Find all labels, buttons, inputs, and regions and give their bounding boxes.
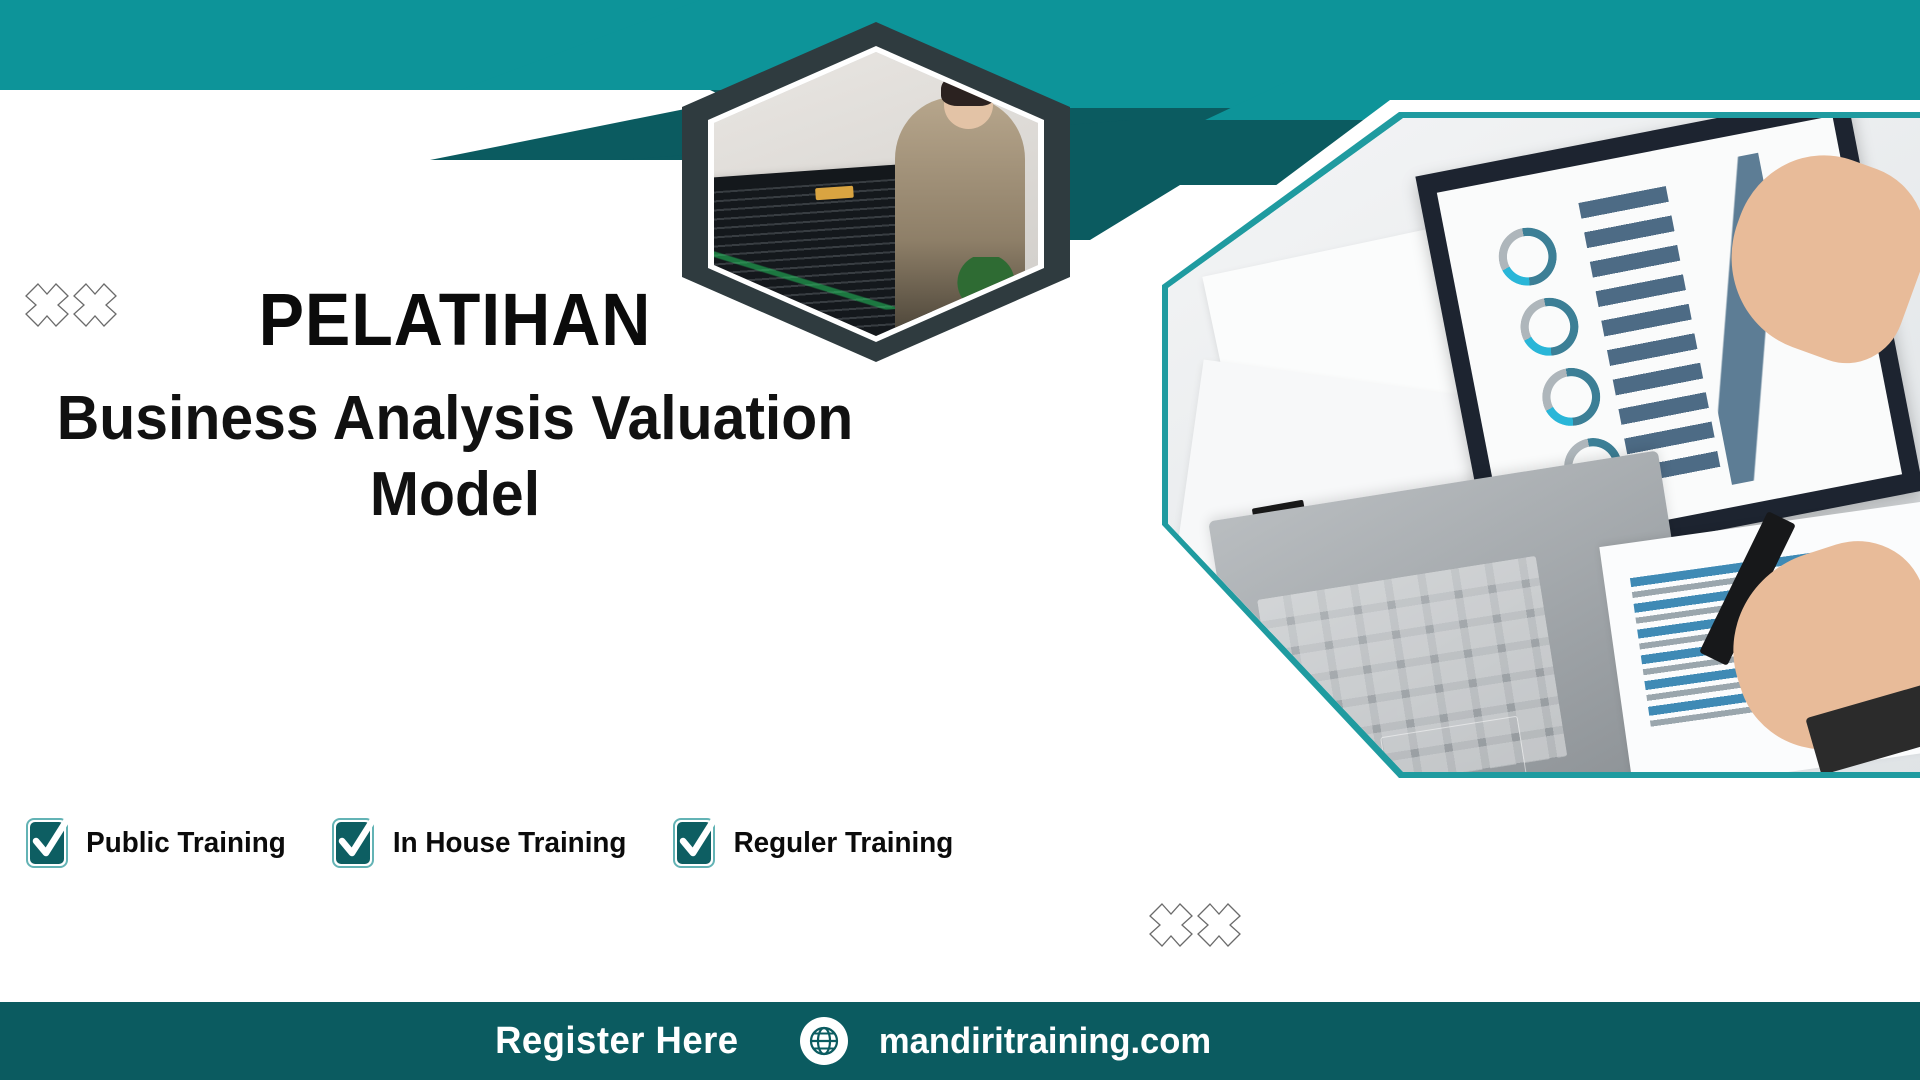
x-decoration-bottom	[1148, 902, 1242, 948]
training-options-list: Public Training In House Training Regule…	[26, 818, 958, 868]
page-title-line-1: Business Analysis Valuation	[23, 381, 888, 457]
donut-chart-1	[1494, 223, 1562, 291]
training-option-public[interactable]: Public Training	[26, 818, 290, 868]
headline-block: PELATIHAN Business Analysis Valuation Mo…	[0, 282, 910, 533]
footer-bar: Register Here mandiritraining.com	[0, 1002, 1920, 1080]
training-option-label: Public Training	[86, 827, 286, 860]
donut-chart-2	[1516, 293, 1584, 361]
checkmark-icon	[330, 810, 382, 868]
checkmark-icon	[671, 810, 723, 868]
x-cross-outline-icon	[1196, 902, 1242, 948]
website-url[interactable]: mandiritraining.com	[879, 1020, 1211, 1062]
page-title: Business Analysis Valuation Model	[23, 381, 888, 532]
checkmark-icon	[24, 810, 76, 868]
x-cross-outline-icon	[1148, 902, 1194, 948]
training-option-label: In House Training	[393, 827, 627, 860]
page-kicker: PELATIHAN	[36, 282, 873, 357]
donut-chart-3	[1538, 363, 1606, 431]
page-title-line-2: Model	[23, 457, 888, 533]
training-option-in-house[interactable]: In House Training	[332, 818, 631, 868]
training-option-reguler[interactable]: Reguler Training	[673, 818, 958, 868]
register-here-label[interactable]: Register Here	[495, 1020, 738, 1063]
checkbox-checked-icon[interactable]	[26, 818, 68, 868]
flyer-canvas: PELATIHAN Business Analysis Valuation Mo…	[0, 0, 1920, 1080]
footer-content: Register Here mandiritraining.com	[490, 1017, 1218, 1065]
website-group[interactable]: mandiritraining.com	[800, 1017, 1218, 1065]
hex-right-photo	[1168, 118, 1920, 772]
globe-icon	[800, 1017, 848, 1065]
checkbox-checked-icon[interactable]	[673, 818, 715, 868]
checkbox-checked-icon[interactable]	[332, 818, 374, 868]
training-option-label: Reguler Training	[734, 827, 954, 860]
